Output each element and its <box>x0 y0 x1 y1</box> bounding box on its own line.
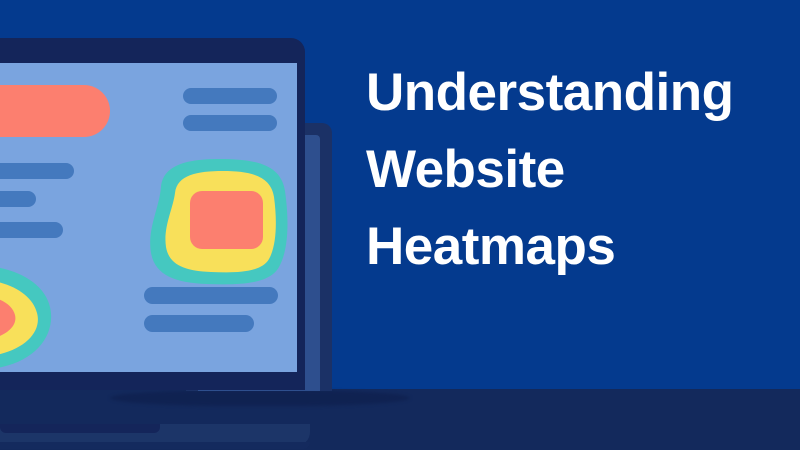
placeholder-bar-left-2 <box>0 191 36 207</box>
laptop-drop-shadow <box>110 390 410 406</box>
page-title: Understanding Website Heatmaps <box>366 54 786 285</box>
page-title-line-2: Website <box>366 131 786 208</box>
placeholder-bar-lower-2 <box>144 315 254 332</box>
laptop-base-edge <box>0 442 310 449</box>
placeholder-bar-right-1 <box>183 88 277 104</box>
placeholder-bar-lower-1 <box>144 287 278 304</box>
heatmap-blob-primary <box>145 157 295 287</box>
heat-layer-hot <box>190 191 263 249</box>
placeholder-bar-right-2 <box>183 115 277 131</box>
placeholder-bar-left-3 <box>0 222 63 238</box>
heatmap-hero-block <box>0 85 110 137</box>
laptop-hinge-notch <box>0 424 160 433</box>
laptop-illustration <box>0 38 305 390</box>
page-title-line-3: Heatmaps <box>366 208 786 285</box>
laptop-screen <box>0 63 297 372</box>
slide-canvas: Understanding Website Heatmaps <box>0 0 800 450</box>
page-title-line-1: Understanding <box>366 54 786 131</box>
placeholder-bar-left-1 <box>0 163 74 179</box>
heatmap-blob-secondary <box>0 259 62 372</box>
